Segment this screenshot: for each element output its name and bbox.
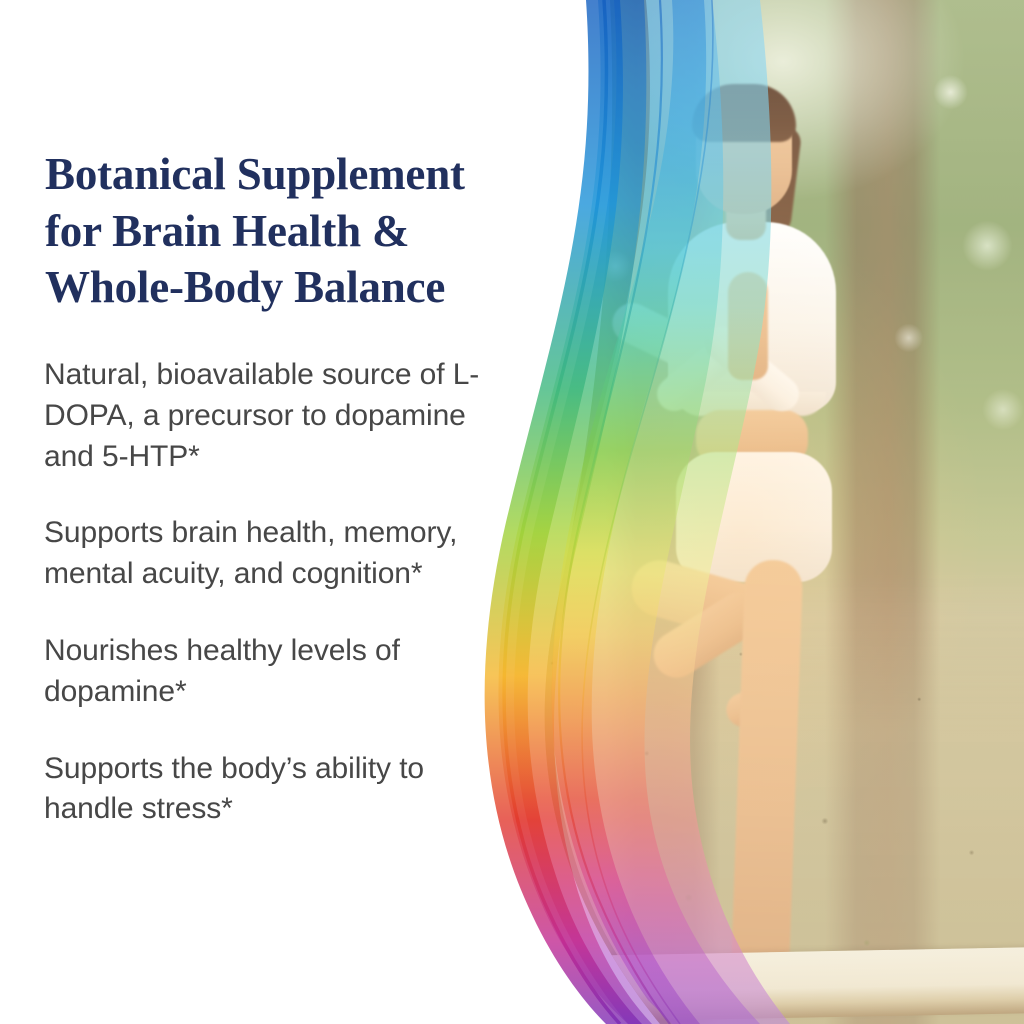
- promo-image: Botanical Supplement for Brain Health & …: [0, 0, 1024, 1024]
- text-panel: Botanical Supplement for Brain Health & …: [0, 0, 580, 1024]
- benefits-list: Natural, bioavailable source of L-DOPA, …: [44, 355, 514, 830]
- benefit-item: Nourishes healthy levels of dopamine*: [44, 631, 514, 713]
- headline-line-1: Botanical Supplement: [45, 146, 585, 203]
- benefit-item: Natural, bioavailable source of L-DOPA, …: [44, 355, 514, 477]
- benefit-item: Supports the body’s ability to handle st…: [44, 749, 514, 831]
- headline-line-3: Whole-Body Balance: [45, 259, 585, 316]
- shorts: [676, 452, 832, 582]
- page-title: Botanical Supplement for Brain Health & …: [45, 146, 585, 316]
- benefit-item: Supports brain health, memory, mental ac…: [44, 513, 514, 595]
- prayer-hands: [728, 272, 768, 380]
- hair: [692, 84, 796, 142]
- headline-line-2: for Brain Health &: [45, 203, 585, 260]
